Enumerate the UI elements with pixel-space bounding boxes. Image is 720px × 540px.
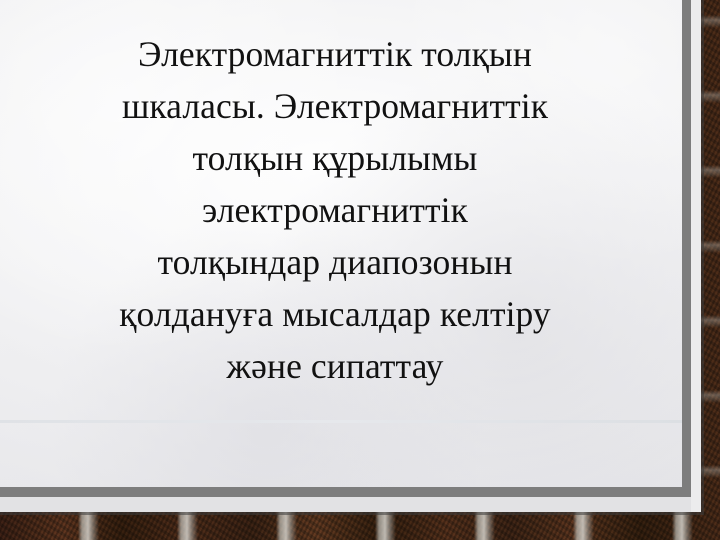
- title-line-5: толқындар диапозонын: [6, 236, 664, 288]
- slide-title: Электромагниттік толқын шкаласы. Электро…: [6, 28, 664, 392]
- title-line-2: шкаласы. Электромагниттік: [6, 80, 664, 132]
- slide-content-panel: Электромагниттік толқын шкаласы. Электро…: [0, 0, 682, 487]
- title-line-6: қолдануға мысалдар келтіру: [6, 288, 664, 340]
- title-line-7: және сипаттау: [6, 340, 664, 392]
- card-bevel-bottom: [0, 487, 691, 497]
- title-line-3: толқын құрылымы: [6, 132, 664, 184]
- title-line-1: Электромагниттік толқын: [6, 28, 664, 80]
- blue-accent-band: [0, 422, 682, 487]
- card-bevel-right: [682, 0, 691, 497]
- slide-stage: Электромагниттік толқын шкаласы. Электро…: [0, 0, 720, 540]
- card-frame-bottom: [0, 497, 701, 512]
- title-line-4: электромагниттік: [6, 184, 664, 236]
- card-frame-right: [691, 0, 701, 512]
- slide-card: Электромагниттік толқын шкаласы. Электро…: [0, 0, 701, 512]
